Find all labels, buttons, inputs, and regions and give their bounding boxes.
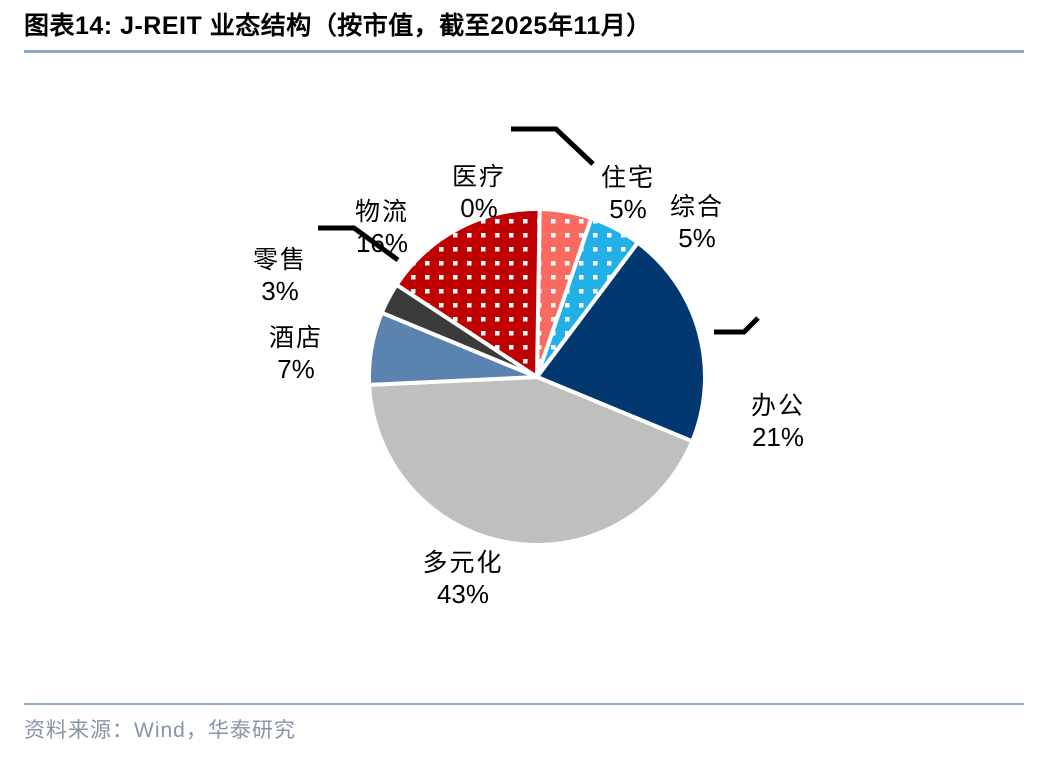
pie-slice-group	[369, 209, 705, 545]
figure-container: 图表14: J-REIT 业态结构（按市值，截至2025年11月）	[0, 0, 1048, 760]
page-title: 图表14: J-REIT 业态结构（按市值，截至2025年11月）	[24, 8, 1024, 44]
title-divider	[24, 50, 1024, 53]
source-note: 资料来源：Wind，华泰研究	[24, 714, 296, 744]
footer-divider	[24, 703, 1024, 705]
leader-line-healthcare	[511, 129, 593, 164]
leader-line-retail	[318, 228, 398, 260]
pie-chart-svg	[0, 60, 1048, 690]
pie-chart: 办公21%多元化43%酒店7%零售3%物流16%医疗0%住宅5%综合5%	[0, 60, 1048, 690]
leader-line-office	[714, 318, 758, 332]
